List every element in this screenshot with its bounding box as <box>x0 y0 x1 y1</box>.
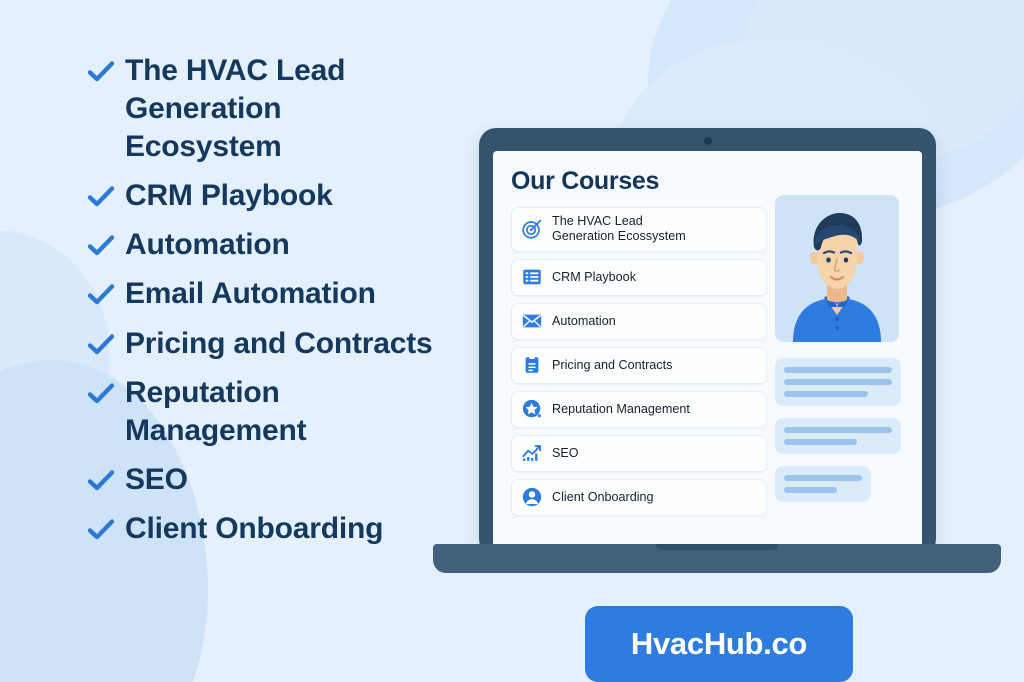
check-icon <box>86 57 116 87</box>
clipboard-icon <box>520 354 543 377</box>
skeleton-line <box>784 367 892 373</box>
laptop-screen: Our Courses The HVAC Lead Generation Eco… <box>493 151 922 547</box>
checklist-item-reputation-management: Reputation Management <box>86 374 496 450</box>
checklist-item-label: Automation <box>125 226 290 264</box>
checklist-item-seo: SEO <box>86 461 496 499</box>
check-icon <box>86 231 116 261</box>
checklist-item-label: Email Automation <box>125 275 376 313</box>
skeleton-card <box>775 466 871 502</box>
envelope-icon <box>520 310 543 333</box>
cards-icon <box>520 266 543 289</box>
course-item-label: CRM Playbook <box>552 270 636 285</box>
course-item-reputation-management[interactable]: Reputation Management <box>511 391 767 428</box>
checklist-item-hvac-lead-generation-ecosystem: The HVAC Lead Generation Ecosystem <box>86 52 496 166</box>
checklist-item-client-onboarding: Client Onboarding <box>86 510 496 548</box>
check-icon <box>86 280 116 310</box>
skeleton-line <box>784 379 892 385</box>
course-item-seo[interactable]: SEO <box>511 435 767 472</box>
avatar <box>775 195 899 342</box>
person-circle-icon <box>520 486 543 509</box>
check-icon <box>86 182 116 212</box>
course-item-hvac-lead-generation[interactable]: The HVAC Lead Generation Ecossystem <box>511 207 767 252</box>
checklist-item-label: Client Onboarding <box>125 510 383 548</box>
courses-panel: Our Courses The HVAC Lead Generation Eco… <box>493 151 767 547</box>
laptop-lid: Our Courses The HVAC Lead Generation Eco… <box>479 128 936 556</box>
skeleton-line <box>784 487 837 493</box>
laptop-camera-icon <box>704 137 712 145</box>
checklist-item-email-automation: Email Automation <box>86 275 496 313</box>
skeleton-card <box>775 418 901 454</box>
course-item-label: Pricing and Contracts <box>552 358 672 373</box>
course-item-label: Reputation Management <box>552 402 690 417</box>
target-icon <box>520 218 543 241</box>
course-item-pricing-and-contracts[interactable]: Pricing and Contracts <box>511 347 767 384</box>
promo-graphic: The HVAC Lead Generation Ecosystem CRM P… <box>0 0 1024 682</box>
course-item-client-onboarding[interactable]: Client Onboarding <box>511 479 767 516</box>
feature-checklist: The HVAC Lead Generation Ecosystem CRM P… <box>86 52 496 559</box>
check-icon <box>86 515 116 545</box>
check-icon <box>86 379 116 409</box>
skeleton-card <box>775 358 901 406</box>
profile-panel <box>767 151 922 547</box>
checklist-item-crm-playbook: CRM Playbook <box>86 177 496 215</box>
checklist-item-label: CRM Playbook <box>125 177 333 215</box>
skeleton-line <box>784 439 857 445</box>
laptop-base-notch <box>656 544 778 550</box>
skeleton-line <box>784 427 892 433</box>
skeleton-line <box>784 475 862 481</box>
page-title: Our Courses <box>511 167 767 196</box>
course-item-label: SEO <box>552 446 579 461</box>
check-icon <box>86 330 116 360</box>
checklist-item-label: Pricing and Contracts <box>125 325 433 363</box>
laptop-base <box>433 544 1001 573</box>
course-item-automation[interactable]: Automation <box>511 303 767 340</box>
course-item-label: The HVAC Lead Generation Ecossystem <box>552 214 686 245</box>
check-icon <box>86 466 116 496</box>
star-badge-icon <box>520 398 543 421</box>
chart-up-icon <box>520 442 543 465</box>
checklist-item-automation: Automation <box>86 226 496 264</box>
checklist-item-label: Reputation Management <box>125 374 306 450</box>
course-item-label: Client Onboarding <box>552 490 654 505</box>
brand-button[interactable]: HvacHub.co <box>585 606 853 682</box>
course-item-label: Automation <box>552 314 616 329</box>
checklist-item-label: The HVAC Lead Generation Ecosystem <box>125 52 496 166</box>
checklist-item-pricing-and-contracts: Pricing and Contracts <box>86 325 496 363</box>
checklist-item-label: SEO <box>125 461 188 499</box>
skeleton-line <box>784 391 868 397</box>
course-item-crm-playbook[interactable]: CRM Playbook <box>511 259 767 296</box>
